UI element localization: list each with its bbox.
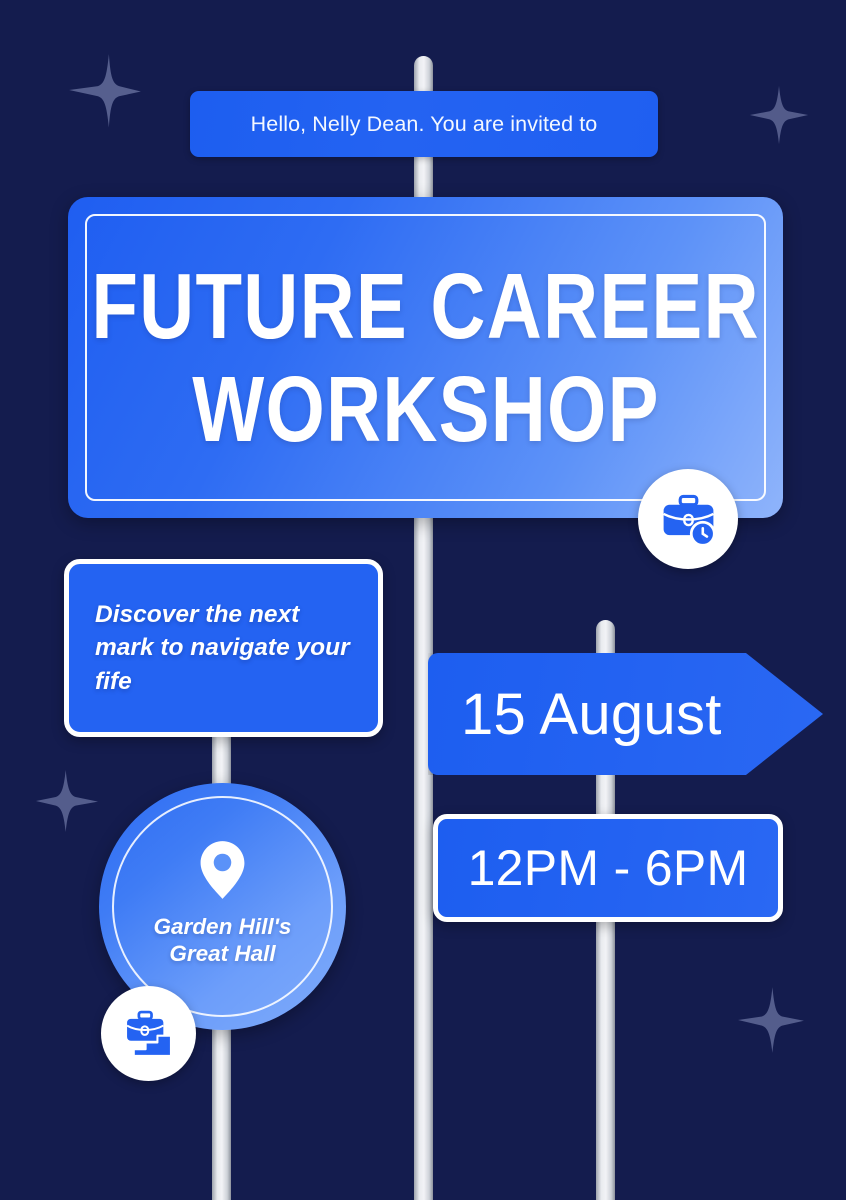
tagline-text: Discover the next mark to navigate your … — [95, 598, 352, 698]
location-pin-icon — [199, 840, 246, 900]
sparkle-icon-top-right — [748, 84, 810, 146]
venue-text-line-2: Great Hall — [169, 940, 275, 967]
poster-canvas: Hello, Nelly Dean. You are invited to FU… — [0, 0, 846, 1200]
venue-text-line-1: Garden Hill's — [154, 913, 292, 940]
page-title-line-2: WORKSHOP — [192, 365, 659, 453]
briefcase-clock-icon — [638, 469, 738, 569]
greeting-text: Hello, Nelly Dean. You are invited to — [251, 112, 598, 137]
tagline-sign: Discover the next mark to navigate your … — [64, 559, 383, 737]
date-text: 15 August — [461, 681, 722, 748]
venue-sign-ring — [112, 796, 333, 1017]
sparkle-icon-bottom-right — [736, 985, 806, 1055]
time-sign: 12PM - 6PM — [433, 814, 783, 922]
briefcase-stairs-icon — [101, 986, 196, 1081]
page-title-line-1: FUTURE CAREER — [91, 262, 759, 350]
sparkle-icon-top-left — [66, 51, 144, 129]
time-text: 12PM - 6PM — [468, 839, 749, 897]
greeting-sign: Hello, Nelly Dean. You are invited to — [190, 91, 658, 157]
date-sign: 15 August — [428, 653, 823, 775]
sparkle-icon-mid-left — [34, 768, 100, 834]
